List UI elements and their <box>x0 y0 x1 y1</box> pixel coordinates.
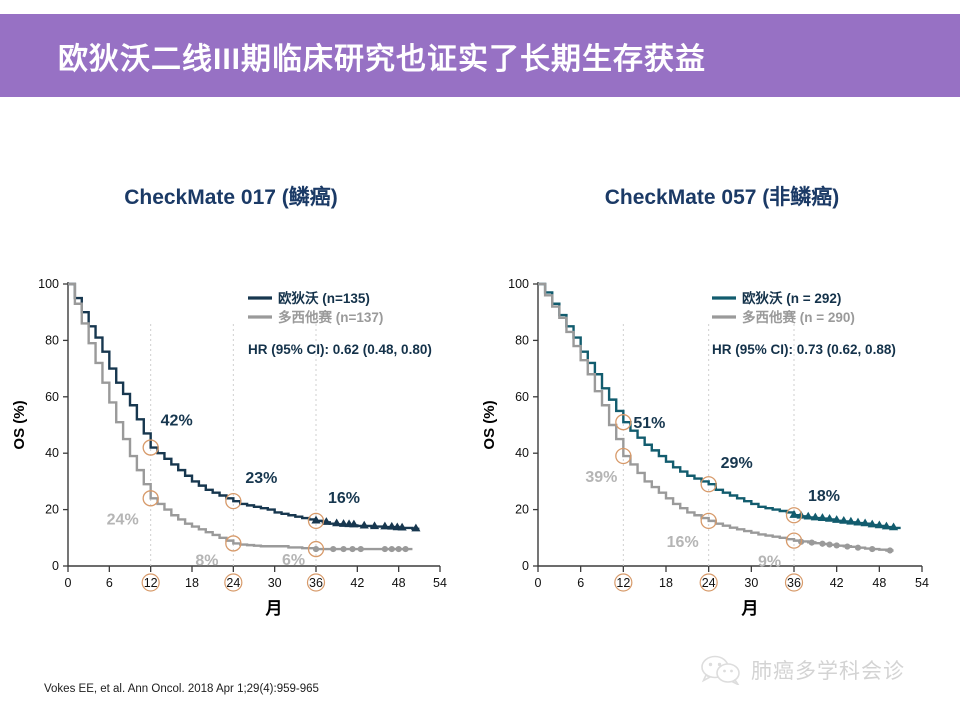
km-plot-checkmate-017: 020406080100OS (%)061218243036424854月42%… <box>0 266 480 626</box>
km-chart-checkmate-017: 020406080100OS (%)061218243036424854月42%… <box>0 266 480 626</box>
y-axis-label: OS (%) <box>11 400 28 449</box>
censor-mark <box>330 546 336 552</box>
annotation-29%: 29% <box>721 455 753 472</box>
x-tick-label: 24 <box>226 576 240 590</box>
x-tick-label: 48 <box>872 576 886 590</box>
legend-label: 多西他赛 (n = 290) <box>742 309 855 325</box>
annotation-16%: 16% <box>328 490 360 507</box>
x-axis-label: 月 <box>741 599 759 618</box>
y-tick-label: 80 <box>45 333 59 347</box>
x-tick-label: 48 <box>392 576 406 590</box>
page-title: 欧狄沃二线III期临床研究也证实了长期生存获益 <box>58 34 706 78</box>
censor-mark <box>789 510 798 518</box>
annotation-51%: 51% <box>633 415 665 432</box>
y-tick-label: 80 <box>515 333 529 347</box>
y-tick-label: 20 <box>515 503 529 517</box>
legend-label: 欧狄沃 (n = 292) <box>742 290 841 306</box>
chart-panel-checkmate-017: CheckMate 017 (鳞癌) 020406080100OS (%)061… <box>0 106 480 666</box>
y-tick-label: 60 <box>515 390 529 404</box>
x-tick-label: 24 <box>702 576 716 590</box>
x-tick-label: 42 <box>350 576 364 590</box>
x-tick-label: 36 <box>787 576 801 590</box>
y-tick-label: 20 <box>45 503 59 517</box>
x-tick-label: 12 <box>144 576 158 590</box>
y-tick-label: 0 <box>52 559 59 573</box>
legend-label: 欧狄沃 (n=135) <box>278 290 370 306</box>
x-tick-label: 0 <box>65 576 72 590</box>
annotation-24%: 24% <box>107 511 139 528</box>
censor-mark <box>855 545 861 551</box>
annotation-6%: 6% <box>282 552 305 569</box>
censor-mark <box>389 546 395 552</box>
x-tick-label: 54 <box>915 576 929 590</box>
reference-citation: Vokes EE, et al. Ann Oncol. 2018 Apr 1;2… <box>44 683 319 695</box>
x-tick-label: 42 <box>830 576 844 590</box>
annotation-16%: 16% <box>667 534 699 551</box>
x-tick-label: 6 <box>106 576 113 590</box>
x-tick-label: 12 <box>616 576 630 590</box>
annotation-23%: 23% <box>245 470 277 487</box>
hr-statistic: HR (95% CI): 0.73 (0.62, 0.88) <box>712 342 896 357</box>
censor-mark <box>332 519 341 527</box>
watermark-label: 肺癌多学科会诊 <box>751 655 905 685</box>
censor-mark <box>349 546 355 552</box>
censor-mark <box>844 543 850 549</box>
censor-mark <box>869 546 875 552</box>
annotation-42%: 42% <box>161 413 193 430</box>
y-tick-label: 100 <box>508 277 529 291</box>
annotation-39%: 39% <box>585 469 617 486</box>
chart-title-checkmate-017: CheckMate 017 (鳞癌) <box>0 181 480 211</box>
censor-mark <box>809 539 815 545</box>
x-tick-label: 6 <box>577 576 584 590</box>
x-tick-label: 18 <box>659 576 673 590</box>
censor-mark <box>887 547 893 553</box>
x-tick-label: 0 <box>535 576 542 590</box>
chart-panel-checkmate-057: CheckMate 057 (非鳞癌) 020406080100OS (%)06… <box>480 106 960 666</box>
censor-mark <box>834 542 840 548</box>
censor-mark <box>826 541 832 547</box>
watermark: 肺癌多学科会诊 <box>700 655 905 685</box>
chart-title-checkmate-057: CheckMate 057 (非鳞癌) <box>480 181 960 211</box>
x-tick-label: 54 <box>433 576 447 590</box>
hr-statistic: HR (95% CI): 0.62 (0.48, 0.80) <box>248 342 432 357</box>
censor-mark <box>819 541 825 547</box>
x-tick-label: 30 <box>268 576 282 590</box>
y-tick-label: 0 <box>522 559 529 573</box>
km-plot-checkmate-057: 020406080100OS (%)061218243036424854月51%… <box>480 266 960 626</box>
x-tick-label: 18 <box>185 576 199 590</box>
km-chart-checkmate-057: 020406080100OS (%)061218243036424854月51%… <box>480 266 960 626</box>
y-tick-label: 40 <box>45 446 59 460</box>
wechat-icon <box>700 655 742 685</box>
censor-mark <box>360 521 369 529</box>
y-tick-label: 100 <box>38 277 59 291</box>
x-tick-label: 30 <box>744 576 758 590</box>
x-tick-label: 36 <box>309 576 323 590</box>
y-axis-label: OS (%) <box>481 400 498 449</box>
title-banner: 欧狄沃二线III期临床研究也证实了长期生存获益 <box>0 14 960 97</box>
annotation-18%: 18% <box>808 488 840 505</box>
x-axis-label: 月 <box>265 599 283 618</box>
censor-mark <box>382 546 388 552</box>
legend-label: 多西他赛 (n=137) <box>278 309 383 325</box>
y-tick-label: 40 <box>515 446 529 460</box>
annotation-8%: 8% <box>195 552 218 569</box>
censor-mark <box>313 546 319 552</box>
censor-mark <box>396 546 402 552</box>
y-tick-label: 60 <box>45 390 59 404</box>
censor-mark <box>340 546 346 552</box>
censor-mark <box>358 546 364 552</box>
annotation-9%: 9% <box>758 554 781 571</box>
censor-mark <box>402 546 408 552</box>
